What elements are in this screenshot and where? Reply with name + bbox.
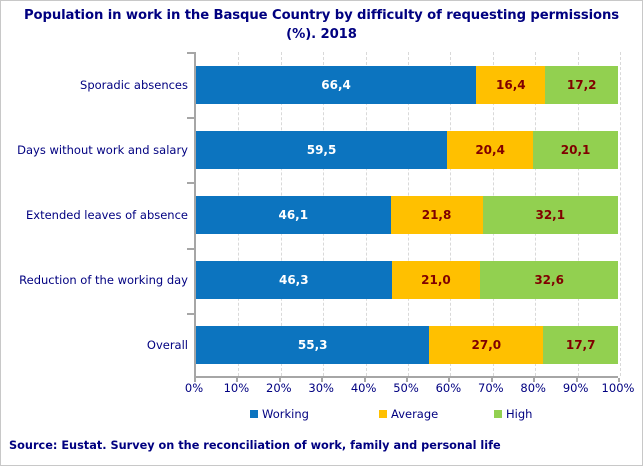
legend-item-average[interactable]: Average [379, 407, 438, 421]
y-axis-tick [187, 248, 194, 250]
legend-swatch-high-icon [494, 410, 502, 418]
y-axis-label-1: Days without work and salary [0, 143, 188, 157]
bar-row[interactable]: 46,121,832,1 [196, 196, 618, 234]
x-axis-tick-labels: 0%10%20%30%40%50%60%70%80%90%100% [194, 381, 618, 397]
bar-row[interactable]: 59,520,420,1 [196, 131, 618, 169]
bar-segment-working[interactable]: 66,4 [196, 66, 476, 104]
x-axis-tick-label: 10% [224, 381, 250, 395]
x-axis-tick-mark [194, 378, 196, 382]
bar-segment-high[interactable]: 20,1 [533, 131, 618, 169]
x-axis-tick-mark [279, 378, 281, 382]
bar-row[interactable]: 66,416,417,2 [196, 66, 618, 104]
y-axis-tick [187, 52, 194, 54]
x-axis-tick-label: 40% [351, 381, 377, 395]
y-axis-label-0: Sporadic absences [0, 78, 188, 92]
x-axis-tick-label: 30% [308, 381, 334, 395]
bar-segment-average[interactable]: 27,0 [429, 326, 543, 364]
x-axis-tick-mark [236, 378, 238, 382]
gridline [620, 52, 621, 376]
bar-segment-working[interactable]: 46,1 [196, 196, 391, 234]
legend-label: High [506, 407, 532, 421]
x-axis-tick-label: 0% [185, 381, 203, 395]
y-axis-tick [187, 313, 194, 315]
x-axis-tick-mark [448, 378, 450, 382]
bar-segment-average[interactable]: 20,4 [447, 131, 533, 169]
bar-segment-average[interactable]: 21,0 [392, 261, 481, 299]
legend-swatch-working-icon [250, 410, 258, 418]
x-axis-tick-label: 50% [393, 381, 419, 395]
source-note: Source: Eustat. Survey on the reconcilia… [9, 439, 501, 452]
legend-item-high[interactable]: High [494, 407, 532, 421]
x-axis-tick-mark [321, 378, 323, 382]
x-axis-tick-label: 80% [520, 381, 546, 395]
bar-segment-high[interactable]: 32,6 [480, 261, 618, 299]
bar-segment-high[interactable]: 17,7 [543, 326, 618, 364]
y-axis-label-3: Reduction of the working day [0, 273, 188, 287]
x-axis-tick-mark [364, 378, 366, 382]
bar-segment-working[interactable]: 55,3 [196, 326, 429, 364]
x-axis-tick-mark [618, 378, 620, 382]
x-axis-tick-mark [576, 378, 578, 382]
bar-segment-average[interactable]: 21,8 [391, 196, 483, 234]
x-axis-tick-label: 100% [602, 381, 635, 395]
x-axis-tick-label: 60% [436, 381, 462, 395]
x-axis-tick-label: 20% [266, 381, 292, 395]
bar-segment-working[interactable]: 59,5 [196, 131, 447, 169]
y-axis-tick [187, 117, 194, 119]
bar-segment-working[interactable]: 46,3 [196, 261, 392, 299]
plot-area: 66,416,417,259,520,420,146,121,832,146,3… [194, 52, 618, 378]
bar-segment-average[interactable]: 16,4 [476, 66, 545, 104]
x-axis-tick-mark [533, 378, 535, 382]
y-axis-label-4: Overall [0, 338, 188, 352]
bar-segment-high[interactable]: 32,1 [483, 196, 618, 234]
legend: WorkingAverageHigh [194, 407, 618, 425]
chart-figure: Population in work in the Basque Country… [0, 0, 643, 466]
y-axis-label-2: Extended leaves of absence [0, 208, 188, 222]
bar-rows: 66,416,417,259,520,420,146,121,832,146,3… [196, 52, 618, 376]
y-axis-tick [187, 182, 194, 184]
x-axis-tick-label: 70% [478, 381, 504, 395]
legend-item-working[interactable]: Working [250, 407, 309, 421]
x-axis-tick-mark [406, 378, 408, 382]
x-axis-tick-mark [491, 378, 493, 382]
legend-swatch-average-icon [379, 410, 387, 418]
legend-label: Average [391, 407, 438, 421]
x-axis-tick-label: 90% [563, 381, 589, 395]
bar-row[interactable]: 55,327,017,7 [196, 326, 618, 364]
legend-label: Working [262, 407, 309, 421]
chart-title: Population in work in the Basque Country… [21, 6, 622, 44]
bar-row[interactable]: 46,321,032,6 [196, 261, 618, 299]
bar-segment-high[interactable]: 17,2 [545, 66, 618, 104]
